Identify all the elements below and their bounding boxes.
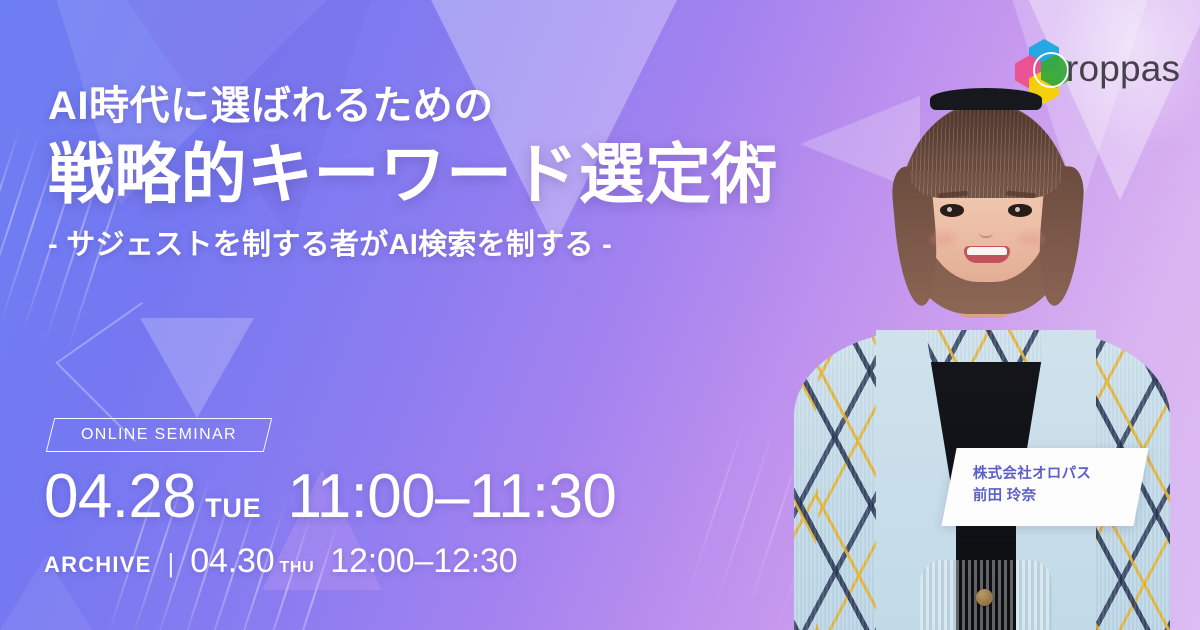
schedule-block: ONLINE SEMINAR 04.28 TUE 11:00–11:30 ARC…	[44, 418, 616, 578]
archive-day-of-week: THU	[279, 560, 314, 576]
online-seminar-badge: ONLINE SEMINAR	[46, 418, 272, 452]
main-session-day-of-week: TUE	[205, 495, 261, 522]
archive-date: 04.30	[190, 544, 274, 578]
speaker-name-plate: 株式会社オロパス 前田 玲奈	[941, 448, 1148, 526]
seminar-banner: roppas AI時代に選ばれるための 戦略的キーワード選定術 - サジェストを…	[0, 0, 1200, 630]
turtleneck-collar	[930, 88, 1042, 110]
archive-time: 12:00–12:30	[330, 544, 517, 578]
hair-fringe	[910, 106, 1062, 198]
blush-right	[1018, 232, 1044, 246]
archive-session-datetime: ARCHIVE | 04.30 THU 12:00–12:30	[44, 544, 616, 578]
mouth	[964, 246, 1010, 263]
main-session-date: 04.28	[44, 466, 196, 528]
archive-separator: |	[167, 550, 174, 576]
speaker-name: 前田 玲奈	[973, 485, 1143, 507]
online-seminar-badge-label: ONLINE SEMINAR	[81, 426, 237, 444]
archive-label: ARCHIVE	[44, 554, 151, 576]
eye-left	[940, 204, 964, 217]
main-session-time: 11:00–11:30	[288, 466, 617, 528]
teeth	[967, 247, 1007, 255]
speaker-company: 株式会社オロパス	[973, 463, 1143, 485]
blush-left	[930, 232, 956, 246]
eye-right	[1008, 204, 1032, 217]
speaker-portrait	[770, 70, 1200, 630]
main-session-datetime: 04.28 TUE 11:00–11:30	[44, 466, 616, 528]
cardigan-button	[976, 589, 993, 606]
triangle-mid-filled-icon	[140, 318, 254, 418]
nose	[979, 222, 993, 238]
